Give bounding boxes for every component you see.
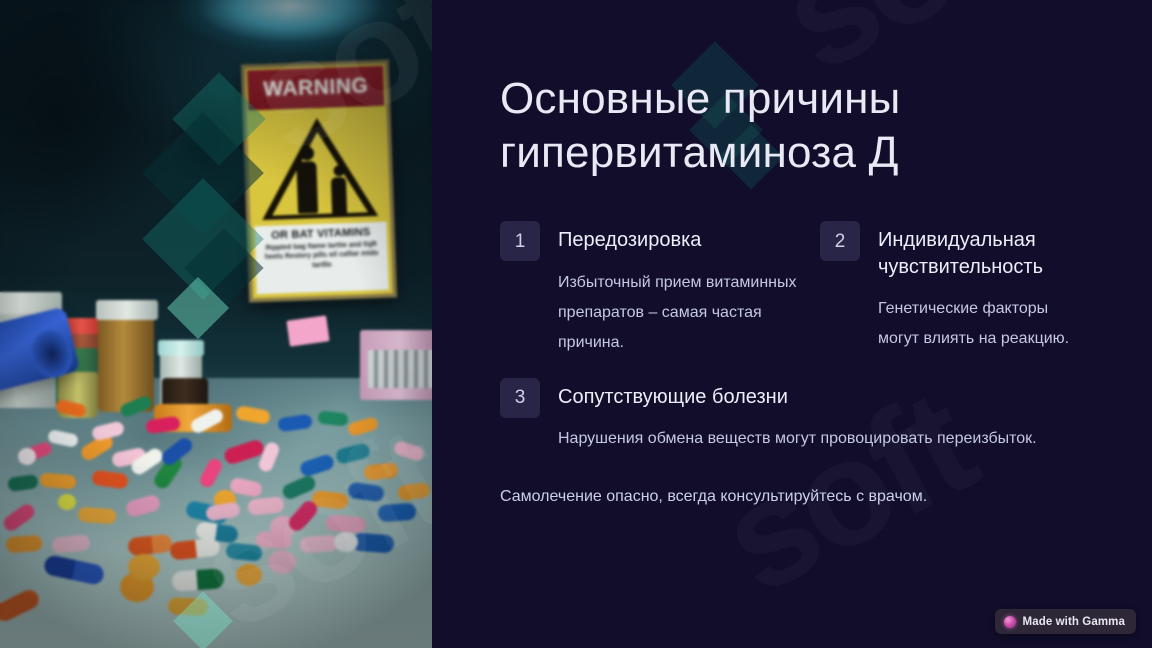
causes-list: 1 Передозировка Избыточный прием витамин… <box>500 221 1092 454</box>
cause-body: Передозировка Избыточный прием витаминны… <box>558 221 800 358</box>
list-item-cause-3: 3 Сопутствующие болезни Нарушения обмена… <box>500 378 1092 454</box>
page-title: Основные причины гипервитаминоза Д <box>500 72 1060 179</box>
slide-content: soft soft Основные причины гипервитамино… <box>432 0 1152 648</box>
gamma-logo-icon <box>1004 616 1016 628</box>
disclaimer-text: Самолечение опасно, всегда консультируйт… <box>500 484 1092 510</box>
cause-body: Индивидуальная чувствительность Генетиче… <box>878 221 1092 354</box>
cause-number-badge: 2 <box>820 221 860 261</box>
cause-title: Передозировка <box>558 227 800 253</box>
made-with-gamma-badge[interactable]: Made with Gamma <box>995 609 1136 634</box>
slide-root: WARNING OR BAT VITAMINS Rippled bag flam… <box>0 0 1152 648</box>
photo-vignette <box>0 0 432 648</box>
slide-image: WARNING OR BAT VITAMINS Rippled bag flam… <box>0 0 432 648</box>
cause-description: Генетические факторы могут влиять на реа… <box>878 294 1092 354</box>
cause-title: Сопутствующие болезни <box>558 384 1092 410</box>
made-with-gamma-label: Made with Gamma <box>1023 616 1125 628</box>
watermark-brand-text: soft <box>780 0 1031 57</box>
list-item-cause-1: 1 Передозировка Избыточный прием витамин… <box>500 221 800 358</box>
cause-description: Избыточный прием витаминных препаратов –… <box>558 268 800 358</box>
cause-number-badge: 1 <box>500 221 540 261</box>
list-item-cause-2: 2 Индивидуальная чувствительность Генети… <box>820 221 1092 358</box>
cause-description: Нарушения обмена веществ могут провоциро… <box>558 424 1092 454</box>
cause-title: Индивидуальная чувствительность <box>878 227 1092 280</box>
cause-number-badge: 3 <box>500 378 540 418</box>
cause-body: Сопутствующие болезни Нарушения обмена в… <box>558 378 1092 454</box>
